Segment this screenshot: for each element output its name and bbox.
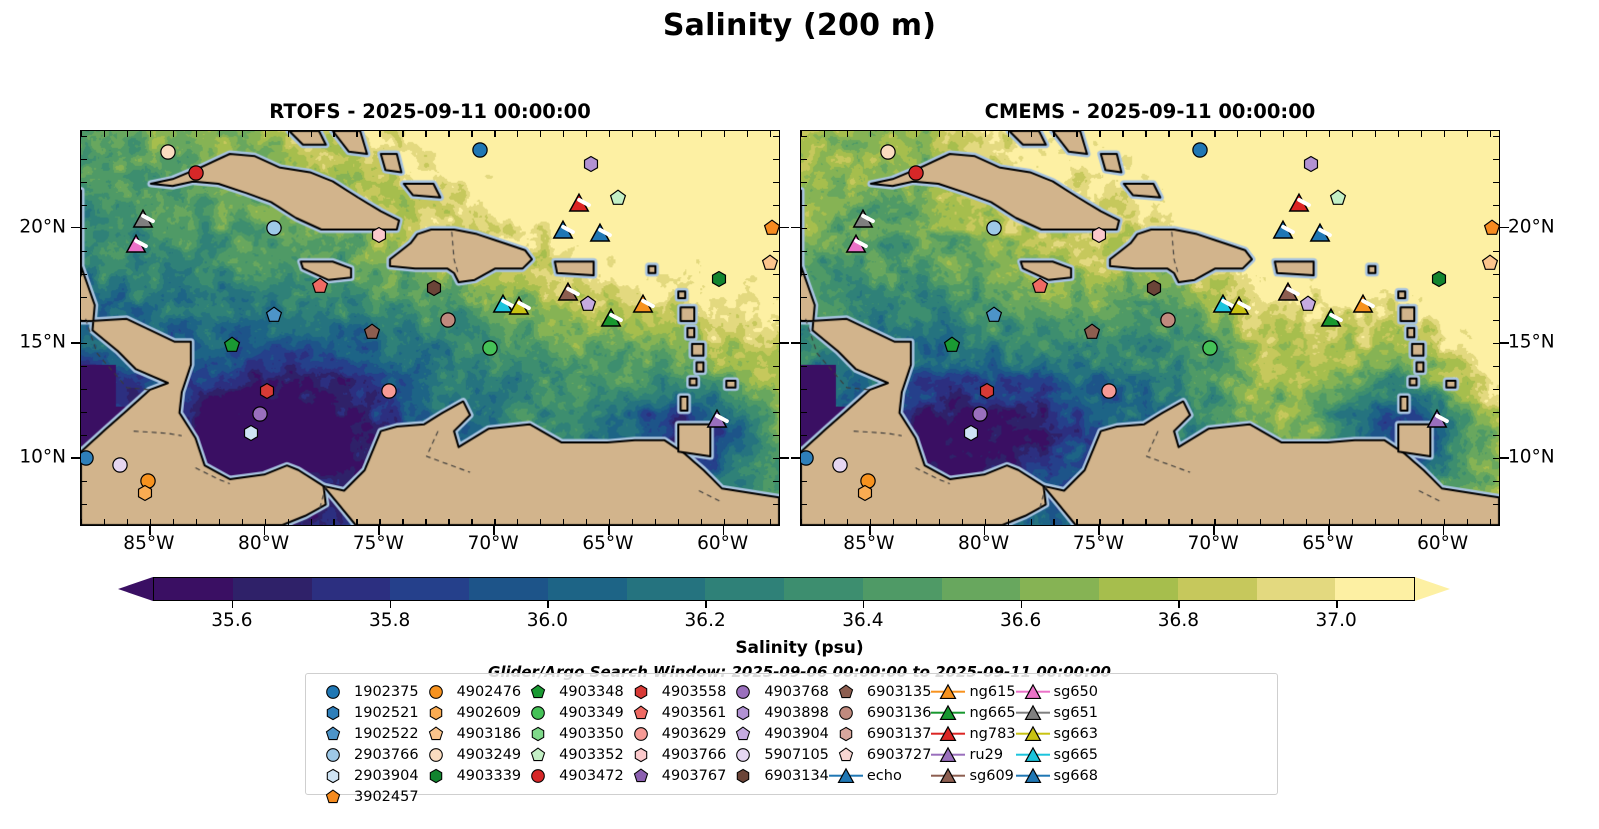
legend-entry[interactable]: 6903134 xyxy=(726,765,829,786)
legend-label: 5907105 xyxy=(760,747,829,763)
axis-minor-tick xyxy=(962,131,963,137)
map-marker-3902457[interactable] xyxy=(763,220,780,241)
map-marker-sg668[interactable] xyxy=(552,220,573,245)
axis-minor-tick xyxy=(1493,136,1499,137)
legend-label: 4903558 xyxy=(658,684,727,700)
legend-entry[interactable]: 1902522 xyxy=(316,723,419,744)
map-marker-4903348[interactable] xyxy=(224,337,241,358)
map-marker-ng665[interactable] xyxy=(1321,307,1342,332)
legend-entry[interactable]: sg609 xyxy=(931,765,1015,786)
marker-circle-icon xyxy=(907,164,924,181)
map-marker-4903903[interactable] xyxy=(1300,295,1317,316)
axis-minor-tick xyxy=(1099,131,1100,137)
map-marker-sg650[interactable] xyxy=(846,234,867,259)
legend-marker-circle-icon xyxy=(829,702,863,723)
legend-entry[interactable]: 6903135 xyxy=(829,681,932,702)
axis-minor-tick xyxy=(1493,389,1499,390)
axis-minor-tick xyxy=(1493,320,1499,321)
axis-minor-tick xyxy=(1031,519,1032,525)
x-axis-tick-label: 70°W xyxy=(1188,533,1239,554)
legend-marker-triangle-icon xyxy=(931,765,965,786)
legend-label: 4903349 xyxy=(555,705,624,721)
legend-marker-pentagon-icon xyxy=(521,681,555,702)
map-marker-4903766[interactable] xyxy=(371,226,388,247)
legend-entry[interactable]: 4903768 xyxy=(726,681,829,702)
axis-minor-tick xyxy=(939,519,940,525)
legend-marker-triangle-icon xyxy=(829,765,863,786)
marker-hexagon-icon xyxy=(1091,226,1108,243)
axis-minor-tick xyxy=(1122,519,1123,525)
axis-minor-tick xyxy=(801,343,807,344)
axis-minor-tick xyxy=(333,131,334,137)
axis-minor-tick xyxy=(824,131,825,137)
colorbar-swatch xyxy=(863,578,942,600)
marker-circle-icon xyxy=(380,383,397,400)
map-marker-4903629[interactable] xyxy=(1100,383,1117,404)
legend-entry[interactable]: 4903186 xyxy=(419,723,522,744)
axis-minor-tick xyxy=(288,131,289,137)
map-marker-4903349[interactable] xyxy=(1201,339,1218,360)
map-marker-ru29[interactable] xyxy=(706,409,727,434)
axis-minor-tick xyxy=(1493,205,1499,206)
map-marker-1902375[interactable] xyxy=(472,141,489,162)
axis-minor-tick xyxy=(1444,131,1445,137)
marker-circle-icon xyxy=(1100,383,1117,400)
legend-entry[interactable]: 4903898 xyxy=(726,702,829,723)
axis-minor-tick xyxy=(870,519,871,525)
legend-marker-triangle-icon xyxy=(931,744,965,765)
map-marker-4903898[interactable] xyxy=(582,155,599,176)
map-marker-4903186[interactable] xyxy=(1481,254,1498,275)
axis-minor-tick xyxy=(1008,131,1009,137)
legend-marker-circle-icon xyxy=(316,744,350,765)
axis-minor-tick xyxy=(773,297,779,298)
map-marker-4903348[interactable] xyxy=(944,337,961,358)
map-marker-6903135[interactable] xyxy=(1084,323,1101,344)
legend-marker-pentagon-icon xyxy=(316,723,350,744)
legend-label: 4903186 xyxy=(453,726,522,742)
map-marker-sg651[interactable] xyxy=(132,208,153,233)
axis-minor-tick xyxy=(801,412,807,413)
x-axis-tick-label: 80°W xyxy=(958,533,1009,554)
marker-pentagon-icon xyxy=(610,190,627,207)
map-marker-2903766[interactable] xyxy=(985,220,1002,241)
legend-entry[interactable]: 4903472 xyxy=(521,765,624,786)
legend-entry[interactable]: 1902521 xyxy=(316,702,419,723)
legend-marker-hexagon-icon xyxy=(726,765,760,786)
legend-label: 2903904 xyxy=(350,768,419,784)
legend-column: 6903135690313669031376903727echo xyxy=(829,681,932,794)
map-marker-4903558[interactable] xyxy=(258,383,275,404)
axis-minor-tick xyxy=(655,519,656,525)
legend-entry[interactable]: sg665 xyxy=(1016,744,1098,765)
legend-entry[interactable]: 4903629 xyxy=(624,723,727,744)
map-marker-6903135[interactable] xyxy=(364,323,381,344)
map-marker-1902522[interactable] xyxy=(985,307,1002,328)
axis-minor-tick xyxy=(1493,435,1499,436)
legend-label: 4903350 xyxy=(555,726,624,742)
axis-minor-tick xyxy=(893,131,894,137)
axis-minor-tick xyxy=(196,519,197,525)
legend-marker-hexagon-icon xyxy=(829,723,863,744)
legend-entry[interactable]: 2903904 xyxy=(316,765,419,786)
axis-minor-tick xyxy=(563,519,564,525)
map-marker-5907105[interactable] xyxy=(832,457,849,478)
legend-label: 4903561 xyxy=(658,705,727,721)
map-marker-4903629[interactable] xyxy=(380,383,397,404)
axis-minor-tick xyxy=(1168,131,1169,137)
axis-minor-tick xyxy=(1214,519,1215,525)
panel-title-rtofs: RTOFS - 2025-09-11 00:00:00 xyxy=(80,100,780,123)
axis-minor-tick xyxy=(773,458,779,459)
axis-minor-tick xyxy=(773,389,779,390)
axis-minor-tick xyxy=(1260,131,1261,137)
colorbar-label: Salinity (psu) xyxy=(0,638,1599,658)
map-marker-1902375[interactable] xyxy=(1192,141,1209,162)
marker-circle-icon xyxy=(252,406,269,423)
map-marker-ng615[interactable] xyxy=(1353,293,1374,318)
map-marker-4903558[interactable] xyxy=(978,383,995,404)
axis-minor-tick xyxy=(379,131,380,137)
axis-minor-tick xyxy=(81,389,87,390)
panel-title-cmems: CMEMS - 2025-09-11 00:00:00 xyxy=(800,100,1500,123)
legend-marker-pentagon-icon xyxy=(624,702,658,723)
legend-label: 1902521 xyxy=(350,705,419,721)
map-marker-4903561[interactable] xyxy=(1031,277,1048,298)
axis-minor-tick xyxy=(824,519,825,525)
marker-circle-icon xyxy=(1201,339,1218,356)
axis-minor-tick xyxy=(150,131,151,137)
marker-pentagon-icon xyxy=(364,323,381,340)
colorbar-tick-label: 36.8 xyxy=(1158,610,1199,631)
legend-entry[interactable]: 2903766 xyxy=(316,744,419,765)
axis-minor-tick xyxy=(632,131,633,137)
map-marker-sg609[interactable] xyxy=(1277,282,1298,307)
map-marker-4903249[interactable] xyxy=(880,144,897,165)
legend-entry[interactable]: 4903558 xyxy=(624,681,727,702)
marker-hexagon-icon xyxy=(582,155,599,172)
axis-minor-tick xyxy=(1490,519,1491,525)
legend-entry[interactable]: ng615 xyxy=(931,681,1015,702)
figure-canvas: Salinity (200 m) RTOFS - 2025-09-11 00:0… xyxy=(0,0,1599,829)
map-marker-4902609[interactable] xyxy=(857,484,874,505)
axis-minor-tick xyxy=(150,519,151,525)
legend-entry[interactable]: 6903727 xyxy=(829,744,932,765)
axis-minor-tick xyxy=(586,131,587,137)
legend-label: sg609 xyxy=(965,768,1013,784)
legend-entry[interactable]: ng665 xyxy=(931,702,1015,723)
axis-minor-tick xyxy=(1214,131,1215,137)
axis-minor-tick xyxy=(773,504,779,505)
map-marker-sg609[interactable] xyxy=(557,282,578,307)
map-marker-4903249[interactable] xyxy=(160,144,177,165)
legend-label: 4903249 xyxy=(453,747,522,763)
legend-marker-triangle-icon xyxy=(1016,702,1050,723)
x-axis-tick-label: 75°W xyxy=(1073,533,1124,554)
axis-minor-tick xyxy=(1467,131,1468,137)
x-axis-tick-label: 75°W xyxy=(353,533,404,554)
legend-label: 4903767 xyxy=(658,768,727,784)
axis-minor-tick xyxy=(1493,159,1499,160)
legend-entry[interactable]: sg650 xyxy=(1016,681,1098,702)
legend-label: 6903727 xyxy=(863,747,932,763)
map-marker-ng615[interactable] xyxy=(633,293,654,318)
legend-box[interactable]: 1902375190252119025222903766290390439024… xyxy=(305,673,1278,795)
map-marker-ng665[interactable] xyxy=(601,307,622,332)
marker-pentagon-icon xyxy=(763,220,780,237)
map-marker-sg663[interactable] xyxy=(1229,296,1250,321)
legend-marker-triangle-icon xyxy=(931,702,965,723)
marker-pentagon-icon xyxy=(1031,277,1048,294)
map-marker-6903134[interactable] xyxy=(1146,279,1163,300)
map-marker-1902521[interactable] xyxy=(800,450,814,471)
legend-entry[interactable]: ng783 xyxy=(931,723,1015,744)
axis-minor-tick xyxy=(402,519,403,525)
colorbar-tick-label: 36.0 xyxy=(527,610,568,631)
axis-minor-tick xyxy=(801,435,807,436)
colorbar-tick-label: 37.0 xyxy=(1316,610,1357,631)
colorbar-tick xyxy=(705,601,707,608)
marker-pentagon-icon xyxy=(224,337,241,354)
y-axis-tick xyxy=(791,227,800,229)
legend-marker-circle-icon xyxy=(419,681,453,702)
legend-entry[interactable]: echo xyxy=(829,765,932,786)
axis-minor-tick xyxy=(1237,131,1238,137)
colorbar-tick-label: 36.4 xyxy=(842,610,883,631)
marker-hexagon-icon xyxy=(711,270,728,287)
colorbar-tick xyxy=(547,601,549,608)
axis-minor-tick xyxy=(242,131,243,137)
colorbar[interactable]: 35.635.836.036.236.436.636.837.0 xyxy=(118,577,1450,601)
axis-minor-tick xyxy=(1191,131,1192,137)
legend-entry[interactable]: 4903561 xyxy=(624,702,727,723)
marker-hexagon-icon xyxy=(978,383,995,400)
axis-minor-tick xyxy=(448,519,449,525)
axis-minor-tick xyxy=(770,131,771,137)
map-marker-echo[interactable] xyxy=(589,222,610,247)
legend-label: 4902476 xyxy=(453,684,522,700)
axis-minor-tick xyxy=(1053,519,1054,525)
axis-minor-tick xyxy=(655,131,656,137)
axis-minor-tick xyxy=(356,519,357,525)
legend-entry[interactable]: sg651 xyxy=(1016,702,1098,723)
axis-minor-tick xyxy=(773,251,779,252)
legend-entry[interactable]: 4902609 xyxy=(419,702,522,723)
colorbar-tick xyxy=(1178,601,1180,608)
axis-minor-tick xyxy=(1493,251,1499,252)
axis-minor-tick xyxy=(870,131,871,137)
axis-minor-tick xyxy=(81,182,87,183)
map-marker-5907105[interactable] xyxy=(112,457,129,478)
page-title: Salinity (200 m) xyxy=(0,8,1599,43)
marker-circle-icon xyxy=(832,457,849,474)
colorbar-tick xyxy=(863,601,865,608)
map-marker-echo[interactable] xyxy=(1309,222,1330,247)
legend-entry[interactable]: 1902375 xyxy=(316,681,419,702)
legend-marker-hexagon-icon xyxy=(521,723,555,744)
axis-minor-tick xyxy=(1493,366,1499,367)
axis-minor-tick xyxy=(1398,519,1399,525)
map-marker-2903766[interactable] xyxy=(265,220,282,241)
legend-entry[interactable]: 4903249 xyxy=(419,744,522,765)
map-marker-4903186[interactable] xyxy=(761,254,778,275)
map-marker-ng783[interactable] xyxy=(1289,192,1310,217)
legend-label: 2903766 xyxy=(350,747,419,763)
legend-entry[interactable]: 4902476 xyxy=(419,681,522,702)
axis-minor-tick xyxy=(916,519,917,525)
y-axis-tick-label: 15°N xyxy=(1508,331,1555,352)
legend-marker-triangle-icon xyxy=(1016,765,1050,786)
map-marker-4903472[interactable] xyxy=(907,164,924,185)
map-marker-1902521[interactable] xyxy=(80,450,94,471)
legend-entry[interactable]: 4903348 xyxy=(521,681,624,702)
legend-label: 4903339 xyxy=(453,768,522,784)
map-panel-cmems[interactable] xyxy=(800,130,1500,526)
axis-minor-tick xyxy=(265,131,266,137)
axis-minor-tick xyxy=(801,504,807,505)
marker-hexagon-icon xyxy=(857,484,874,501)
map-marker-1902522[interactable] xyxy=(265,307,282,328)
legend-marker-pentagon-icon xyxy=(316,786,350,807)
axis-minor-tick xyxy=(847,519,848,525)
legend-marker-triangle-icon xyxy=(1016,723,1050,744)
axis-minor-tick xyxy=(801,205,807,206)
legend-entry[interactable]: 4903767 xyxy=(624,765,727,786)
y-axis-tick xyxy=(791,457,800,459)
legend-label: 4903352 xyxy=(555,747,624,763)
legend-entry[interactable]: 6903137 xyxy=(829,723,932,744)
legend-entry[interactable]: 3902457 xyxy=(316,786,419,807)
map-marker-4903349[interactable] xyxy=(481,339,498,360)
axis-minor-tick xyxy=(81,435,87,436)
axis-minor-tick xyxy=(962,519,963,525)
map-marker-4903898[interactable] xyxy=(1302,155,1319,176)
legend-marker-hexagon-icon xyxy=(316,702,350,723)
legend-marker-triangle-icon xyxy=(1016,744,1050,765)
map-marker-ng783[interactable] xyxy=(569,192,590,217)
marker-circle-icon xyxy=(80,450,94,467)
legend-entry[interactable]: 4903766 xyxy=(624,744,727,765)
map-marker-4903352[interactable] xyxy=(1330,190,1347,211)
axis-minor-tick xyxy=(586,519,587,525)
x-axis-tick-label: 80°W xyxy=(238,533,289,554)
marker-circle-icon xyxy=(1160,312,1177,329)
map-marker-4903352[interactable] xyxy=(610,190,627,211)
legend-label: 4903348 xyxy=(555,684,624,700)
marker-hexagon-icon xyxy=(371,226,388,243)
legend-label: 4903904 xyxy=(760,726,829,742)
legend-entry[interactable]: ru29 xyxy=(931,744,1015,765)
map-marker-4903472[interactable] xyxy=(187,164,204,185)
marker-pentagon-icon xyxy=(1483,220,1500,237)
axis-minor-tick xyxy=(1352,131,1353,137)
axis-minor-tick xyxy=(311,131,312,137)
axis-minor-tick xyxy=(724,131,725,137)
axis-minor-tick xyxy=(773,320,779,321)
axis-minor-tick xyxy=(81,205,87,206)
map-marker-sg650[interactable] xyxy=(126,234,147,259)
map-marker-4903766[interactable] xyxy=(1091,226,1108,247)
map-marker-4903339[interactable] xyxy=(1431,270,1448,291)
colorbar-tick xyxy=(232,601,234,608)
marker-pentagon-icon xyxy=(580,295,597,312)
legend-entry[interactable]: 4903339 xyxy=(419,765,522,786)
y-axis-tick xyxy=(780,227,789,229)
map-marker-6903134[interactable] xyxy=(426,279,443,300)
axis-minor-tick xyxy=(402,131,403,137)
legend-marker-pentagon-icon xyxy=(521,744,555,765)
axis-minor-tick xyxy=(127,519,128,525)
axis-minor-tick xyxy=(1122,131,1123,137)
colorbar-swatch xyxy=(312,578,391,600)
legend-label: 6903134 xyxy=(760,768,829,784)
map-marker-6903136[interactable] xyxy=(440,312,457,333)
legend-marker-triangle-icon xyxy=(1016,681,1050,702)
axis-minor-tick xyxy=(311,519,312,525)
map-marker-4903339[interactable] xyxy=(711,270,728,291)
axis-minor-tick xyxy=(747,131,748,137)
marker-circle-icon xyxy=(265,220,282,237)
axis-minor-tick xyxy=(1490,131,1491,137)
legend-entry[interactable]: sg663 xyxy=(1016,723,1098,744)
legend-entry[interactable]: 4903350 xyxy=(521,723,624,744)
map-marker-sg663[interactable] xyxy=(509,296,530,321)
colorbar-tick-label: 35.8 xyxy=(369,610,410,631)
axis-minor-tick xyxy=(1306,519,1307,525)
axis-minor-tick xyxy=(81,274,87,275)
legend-entry[interactable]: 5907105 xyxy=(726,744,829,765)
map-marker-6903136[interactable] xyxy=(1160,312,1177,333)
marker-pentagon-icon xyxy=(1084,323,1101,340)
map-marker-2903904[interactable] xyxy=(242,424,259,445)
map-marker-4902609[interactable] xyxy=(137,484,154,505)
legend-entry[interactable]: sg668 xyxy=(1016,765,1098,786)
marker-circle-icon xyxy=(112,457,129,474)
legend-column: 49035584903561490362949037664903767 xyxy=(624,681,727,794)
axis-minor-tick xyxy=(563,131,564,137)
map-marker-sg668[interactable] xyxy=(1272,220,1293,245)
map-marker-3902457[interactable] xyxy=(1483,220,1500,241)
map-marker-4903903[interactable] xyxy=(580,295,597,316)
axis-minor-tick xyxy=(173,131,174,137)
axis-minor-tick xyxy=(448,131,449,137)
colorbar-swatch xyxy=(154,578,233,600)
legend-marker-circle-icon xyxy=(419,744,453,765)
marker-circle-icon xyxy=(800,450,814,467)
marker-circle-icon xyxy=(160,144,177,161)
axis-minor-tick xyxy=(81,343,87,344)
map-marker-4903561[interactable] xyxy=(311,277,328,298)
legend-entry[interactable]: 4903904 xyxy=(726,723,829,744)
axis-minor-tick xyxy=(801,136,807,137)
legend-label: sg651 xyxy=(1050,705,1098,721)
colorbar-swatch xyxy=(784,578,863,600)
legend-marker-triangle-icon xyxy=(931,681,965,702)
legend-entry[interactable]: 4903349 xyxy=(521,702,624,723)
map-marker-2903904[interactable] xyxy=(962,424,979,445)
axis-minor-tick xyxy=(801,389,807,390)
axis-minor-tick xyxy=(81,504,87,505)
marker-pentagon-icon xyxy=(311,277,328,294)
map-marker-sg651[interactable] xyxy=(852,208,873,233)
axis-minor-tick xyxy=(801,519,802,525)
legend-entry[interactable]: 6903136 xyxy=(829,702,932,723)
map-marker-ru29[interactable] xyxy=(1426,409,1447,434)
x-axis-tick-label: 60°W xyxy=(697,533,748,554)
legend-entry[interactable]: 4903352 xyxy=(521,744,624,765)
map-panel-rtofs[interactable] xyxy=(80,130,780,526)
marker-hexagon-icon xyxy=(242,424,259,441)
